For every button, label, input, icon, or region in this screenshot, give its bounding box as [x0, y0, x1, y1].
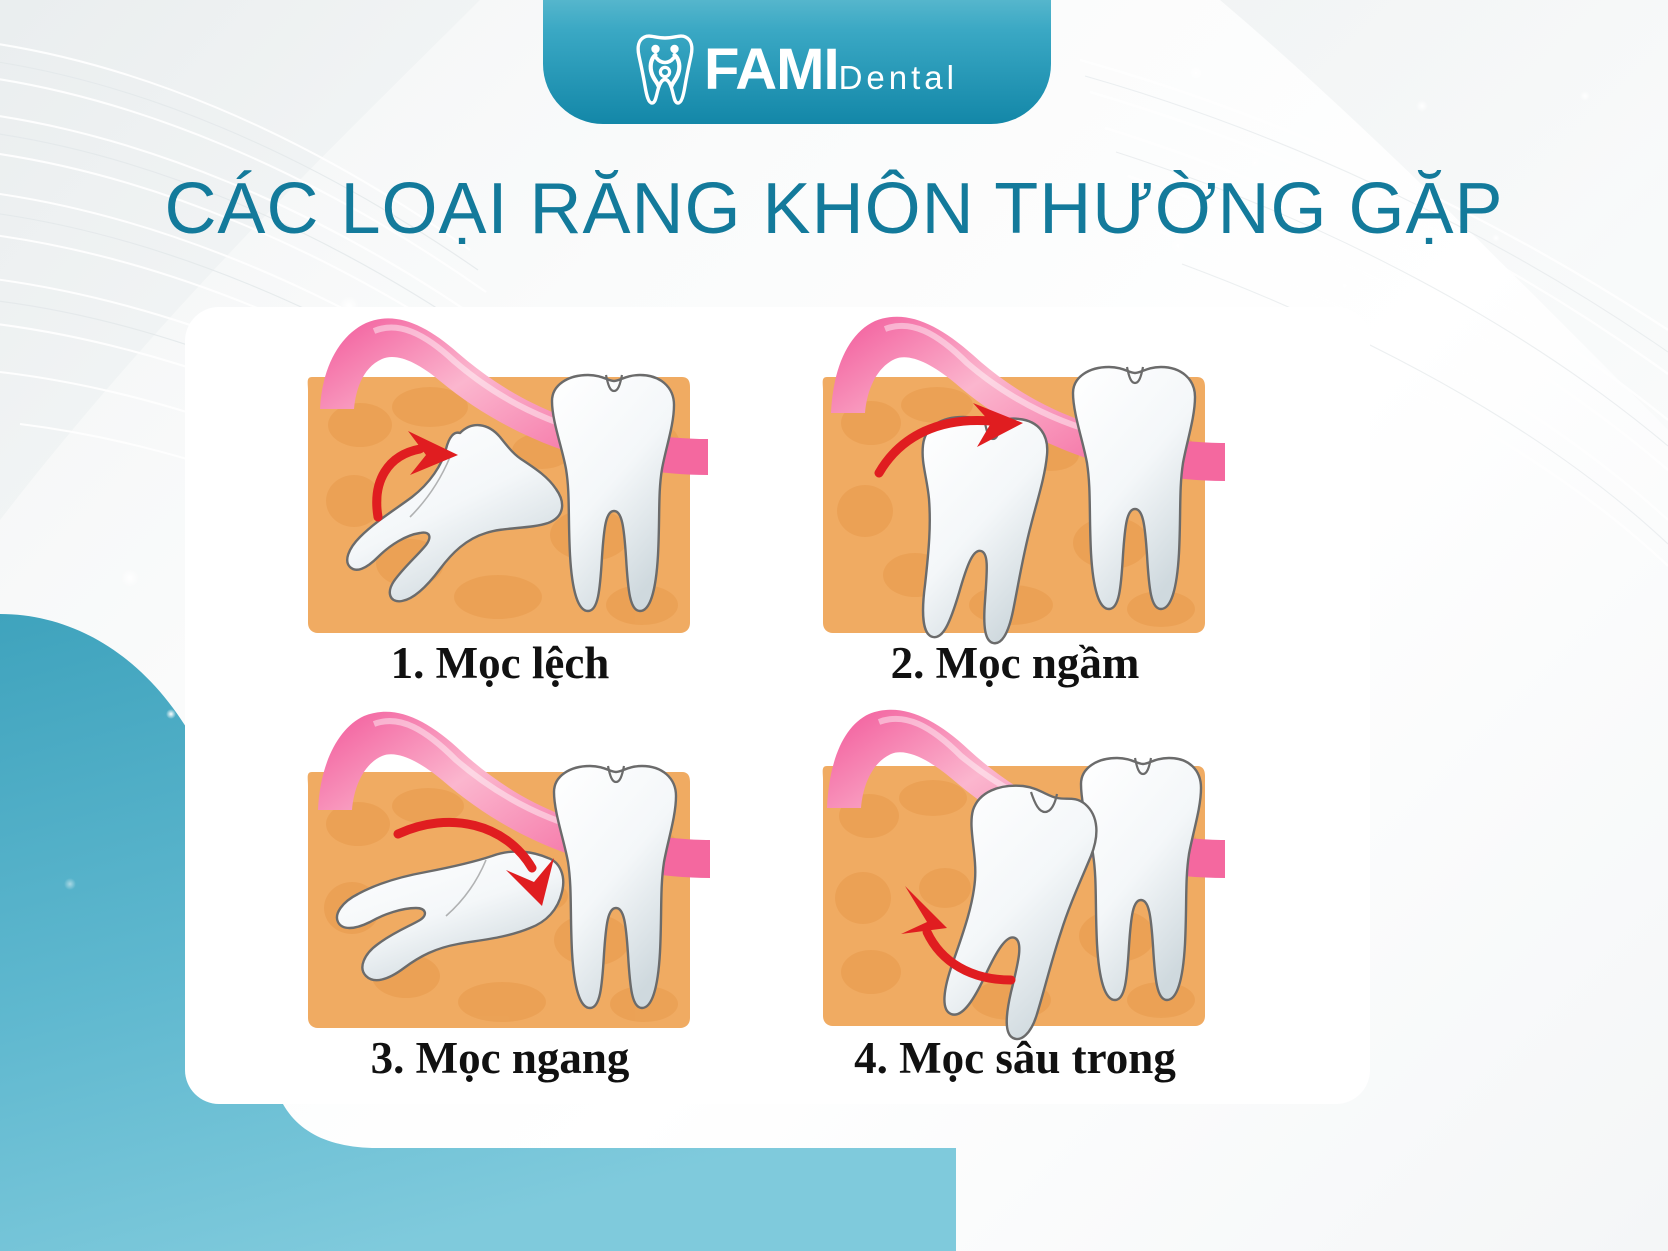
tooth-with-two-figures-icon — [636, 34, 694, 106]
figure-caption-2: 2. Mọc ngầm — [805, 637, 1225, 689]
infographic-stage: FAMI Dental CÁC LOẠI RĂNG KHÔN THƯỜNG GẶ… — [0, 0, 1668, 1251]
impacted-tooth-distal-deep-icon — [805, 700, 1225, 1045]
brand-logo-pill[interactable]: FAMI Dental — [543, 0, 1051, 124]
page-title: CÁC LOẠI RĂNG KHÔN THƯỜNG GẶP — [0, 168, 1668, 250]
figure-item-3[interactable]: 3. Mọc ngang — [290, 700, 710, 1100]
impacted-tooth-mesial-angular-icon — [290, 305, 710, 650]
figure-caption-3: 3. Mọc ngang — [290, 1032, 710, 1084]
figure-item-4[interactable]: 4. Mọc sâu trong — [805, 700, 1225, 1100]
figure-item-2[interactable]: 2. Mọc ngầm — [805, 305, 1225, 705]
impacted-tooth-vertical-buried-icon — [805, 305, 1225, 650]
brand-name-light: Dental — [839, 61, 958, 94]
figure-item-1[interactable]: 1. Mọc lệch — [290, 305, 710, 705]
figure-caption-4: 4. Mọc sâu trong — [805, 1032, 1225, 1084]
figure-caption-1: 1. Mọc lệch — [290, 637, 710, 689]
brand-name-bold: FAMI — [704, 41, 839, 99]
impacted-tooth-horizontal-icon — [290, 700, 710, 1045]
figure-grid: 1. Mọc lệch — [185, 300, 1370, 1115]
